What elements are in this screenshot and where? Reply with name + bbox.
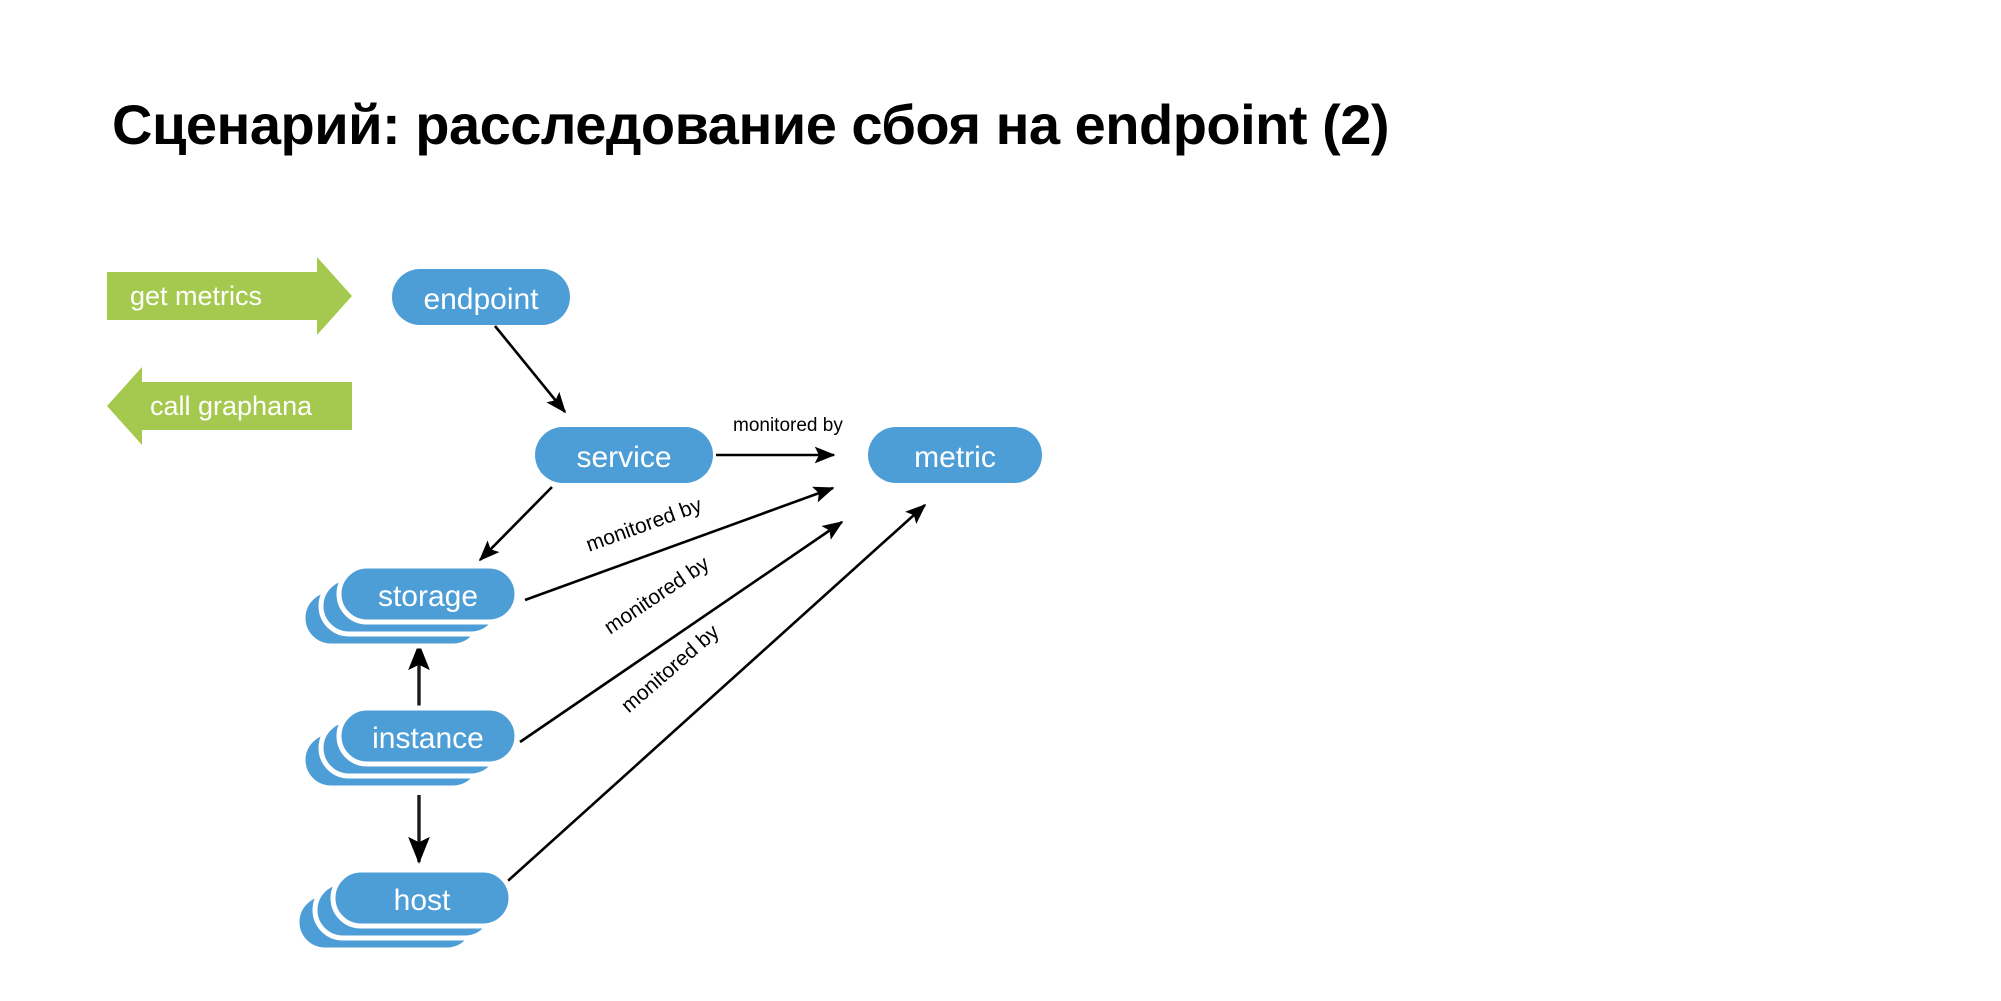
slide-canvas: Сценарий: расследование сбоя на endpoint… (0, 0, 2001, 1001)
callout-label-get-metrics: get metrics (130, 281, 262, 312)
architecture-diagram (0, 0, 2001, 1001)
node-host[interactable] (297, 870, 511, 950)
edge-label-service-metric: monitored by (733, 415, 843, 437)
edge-service-storage (480, 487, 552, 560)
node-endpoint-shape (392, 269, 570, 325)
node-instance[interactable] (303, 708, 517, 788)
node-storage-shape-front (339, 566, 517, 622)
edge-endpoint-service (495, 326, 565, 412)
node-host-shape-front (333, 870, 511, 926)
edge-host-metric (500, 505, 925, 888)
node-service-shape (535, 427, 713, 483)
node-metric[interactable] (868, 427, 1042, 483)
node-endpoint[interactable] (392, 269, 570, 325)
edge-instance-metric (520, 522, 842, 742)
node-service[interactable] (535, 427, 713, 483)
node-instance-shape-front (339, 708, 517, 764)
node-metric-shape (868, 427, 1042, 483)
callout-label-call-graphana: call graphana (150, 391, 312, 422)
node-storage[interactable] (303, 566, 517, 646)
